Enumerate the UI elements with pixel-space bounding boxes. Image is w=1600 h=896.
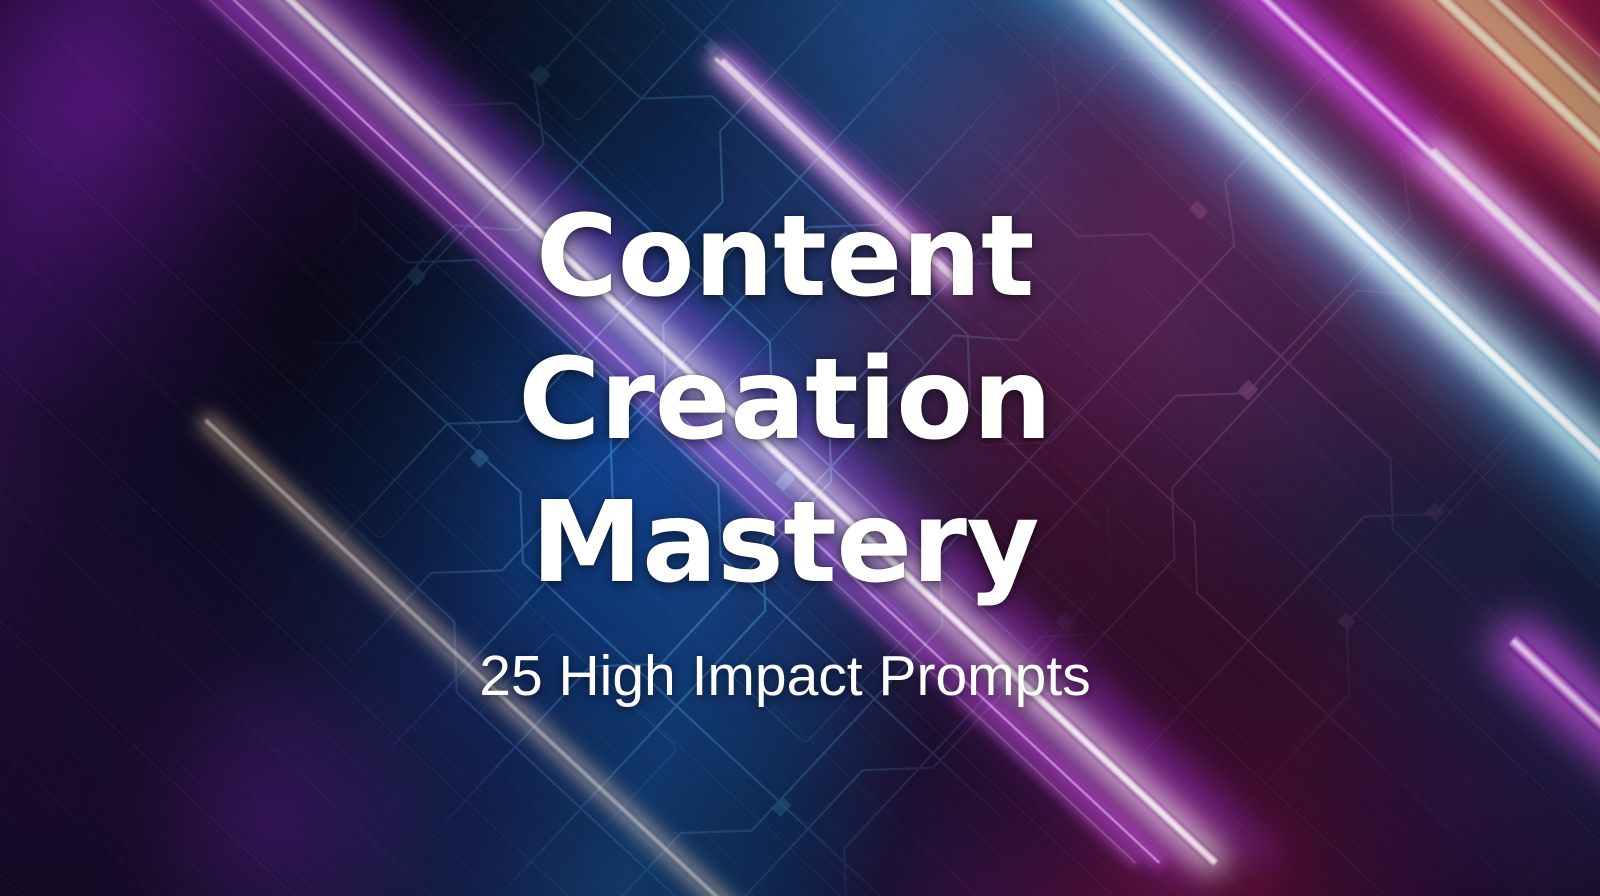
page-title-line-1: Content Creation <box>518 192 1052 465</box>
page-title-line-2: Mastery <box>531 478 1039 608</box>
slide-canvas: Content Creation Mastery 25 High Impact … <box>0 0 1600 896</box>
slide-text-block: Content Creation Mastery 25 High Impact … <box>0 0 1570 896</box>
page-subtitle: 25 High Impact Prompts <box>479 642 1090 710</box>
page-title: Content Creation Mastery <box>280 186 1290 616</box>
